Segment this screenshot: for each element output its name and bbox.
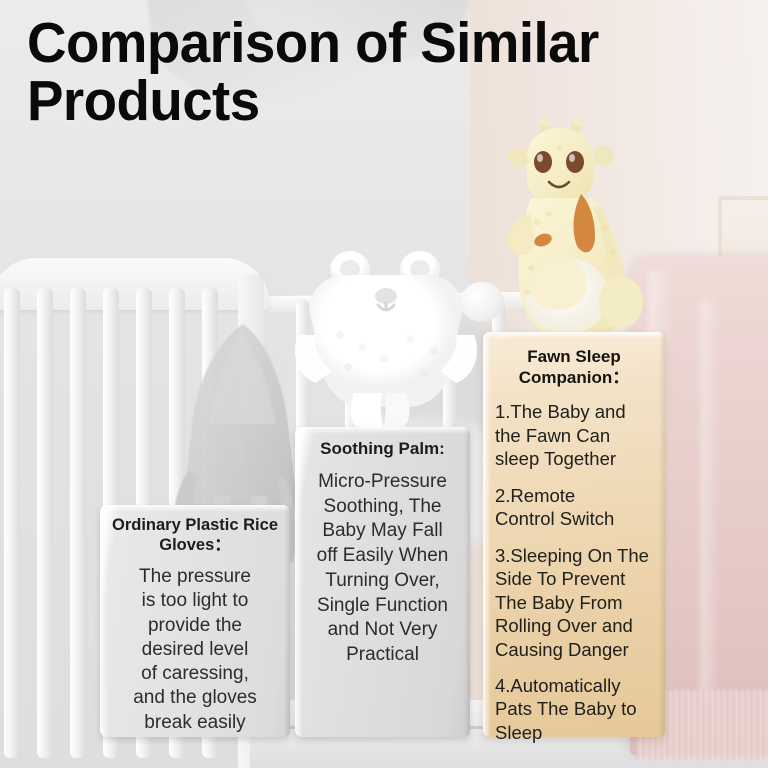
fawn-feature-item: 3.Sleeping On The Side To Prevent The Ba… <box>493 544 655 661</box>
fawn-feature-item: 4.Automatically Pats The Baby to Sleep <box>493 674 655 744</box>
crib-spindle <box>4 288 20 758</box>
page-title: Comparison of Similar Products <box>27 14 713 130</box>
panel-body-ordinary-plastic-rice-gloves: The pressure is too light to provide the… <box>111 565 279 735</box>
panel-heading-fawn-sleep-companion: Fawn Sleep Companion： <box>493 346 655 388</box>
comparison-panel-fawn-sleep-companion: Fawn Sleep Companion： 1.The Baby and the… <box>483 332 665 737</box>
infographic-canvas: Comparison of Similar Products Ordinary … <box>0 0 768 768</box>
panel-heading-ordinary-plastic-rice-gloves: Ordinary Plastic Rice Gloves： <box>111 515 279 556</box>
crib-spindle <box>70 288 86 758</box>
bear-soothing-palm-plush <box>292 243 480 428</box>
fawn-feature-item: 1.The Baby and the Fawn Can sleep Togeth… <box>493 400 655 470</box>
blanket-fold <box>700 300 720 700</box>
panel-heading-soothing-palm: Soothing Palm: <box>306 438 459 459</box>
fawn-feature-item: 2.Remote Control Switch <box>493 484 655 531</box>
panel-body-soothing-palm: Micro-Pressure Soothing, The Baby May Fa… <box>306 470 459 668</box>
comparison-panel-ordinary-plastic-rice-gloves: Ordinary Plastic Rice Gloves： The pressu… <box>100 505 290 737</box>
crib-spindle <box>37 288 53 758</box>
fawn-plush-toy <box>497 118 657 343</box>
fawn-feature-list: 1.The Baby and the Fawn Can sleep Togeth… <box>493 400 655 744</box>
comparison-panel-soothing-palm: Soothing Palm: Micro-Pressure Soothing, … <box>295 427 470 737</box>
